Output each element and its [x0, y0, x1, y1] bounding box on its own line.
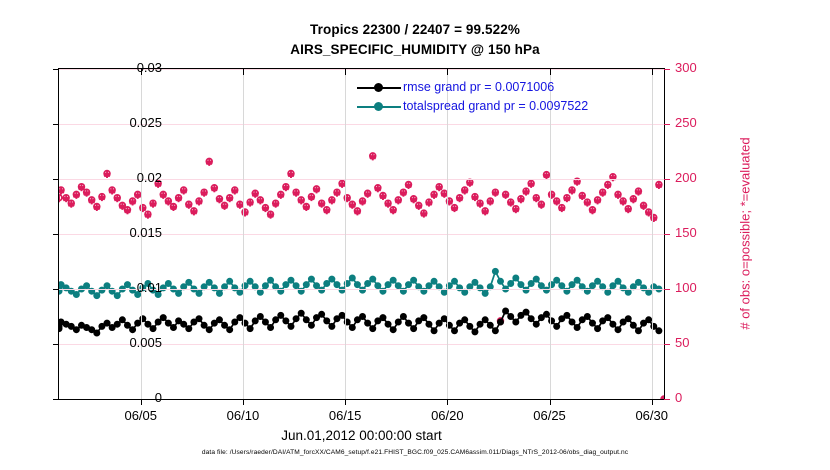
- chart-legend: rmse grand pr = 0.0071006totalspread gra…: [357, 78, 657, 118]
- x-axis-tick-label: 06/10: [213, 408, 273, 423]
- x-axis-tick-label: 06/15: [315, 408, 375, 423]
- legend-marker-icon: [374, 83, 383, 92]
- gridline-vertical: [345, 69, 346, 399]
- chart-title-line1: Tropics 22300 / 22407 = 99.522%: [0, 22, 830, 37]
- left-axis-tick: [53, 179, 59, 180]
- legend-marker-icon: [374, 102, 383, 111]
- right-axis-tick: [664, 344, 670, 345]
- x-axis-tick: [652, 399, 653, 405]
- data-file-footer: data file: /Users/raeder/DAI/ATM_forcXX/…: [0, 449, 830, 456]
- right-axis-title: # of obs: o=possible; *=evaluated: [738, 84, 753, 384]
- left-axis-tick-label: 0.005: [102, 335, 162, 350]
- right-axis-tick: [664, 69, 670, 70]
- right-axis-tick: [664, 289, 670, 290]
- x-axis-tick-label: 06/30: [622, 408, 682, 423]
- gridline-vertical: [652, 69, 653, 399]
- left-axis-tick-label: 0.015: [102, 225, 162, 240]
- x-axis-tick-label: 06/25: [520, 408, 580, 423]
- right-axis-tick-label: 200: [675, 170, 735, 185]
- right-axis-tick-label: 250: [675, 115, 735, 130]
- x-axis-title: Jun.01,2012 00:00:00 start: [58, 428, 665, 443]
- left-axis-tick: [53, 399, 59, 400]
- right-axis-tick-label: 0: [675, 390, 735, 405]
- right-axis-tick: [664, 179, 670, 180]
- x-axis-tick-top: [243, 69, 244, 75]
- right-axis-tick-label: 50: [675, 335, 735, 350]
- left-axis-tick-label: 0.03: [102, 60, 162, 75]
- legend-item[interactable]: rmse grand pr = 0.0071006: [357, 78, 657, 97]
- x-axis-tick-top: [447, 69, 448, 75]
- right-axis-title-wrap: # of obs: o=possible; *=evaluated: [737, 68, 753, 400]
- left-axis-tick-label: 0.02: [102, 170, 162, 185]
- left-axis-tick-label: 0.025: [102, 115, 162, 130]
- legend-label: totalspread grand pr = 0.0097522: [403, 97, 588, 116]
- left-axis-tick-label: 0.01: [102, 280, 162, 295]
- right-axis-tick: [664, 234, 670, 235]
- gridline-vertical: [243, 69, 244, 399]
- right-axis-tick-label: 150: [675, 225, 735, 240]
- chart-title-line2: AIRS_SPECIFIC_HUMIDITY @ 150 hPa: [0, 42, 830, 57]
- x-axis-tick: [345, 399, 346, 405]
- right-axis-tick-label: 100: [675, 280, 735, 295]
- x-axis-tick-top: [550, 69, 551, 75]
- left-axis-tick: [53, 69, 59, 70]
- right-axis-tick: [664, 399, 670, 400]
- x-axis-tick: [243, 399, 244, 405]
- left-axis-tick: [53, 344, 59, 345]
- gridline-vertical: [550, 69, 551, 399]
- legend-label: rmse grand pr = 0.0071006: [403, 78, 554, 97]
- x-axis-tick-top: [345, 69, 346, 75]
- x-axis-tick: [447, 399, 448, 405]
- gridline-vertical: [447, 69, 448, 399]
- legend-item[interactable]: totalspread grand pr = 0.0097522: [357, 97, 657, 116]
- x-axis-tick: [550, 399, 551, 405]
- left-axis-tick: [53, 289, 59, 290]
- left-axis-tick: [53, 234, 59, 235]
- right-axis-tick: [664, 124, 670, 125]
- x-axis-tick-label: 06/20: [417, 408, 477, 423]
- x-axis-tick-label: 06/05: [111, 408, 171, 423]
- figure-root: Tropics 22300 / 22407 = 99.522% AIRS_SPE…: [0, 0, 830, 470]
- left-axis-tick: [53, 124, 59, 125]
- left-axis-tick-label: 0: [102, 390, 162, 405]
- right-axis-tick-label: 300: [675, 60, 735, 75]
- rmse-series: [59, 308, 662, 336]
- x-axis-tick-top: [652, 69, 653, 75]
